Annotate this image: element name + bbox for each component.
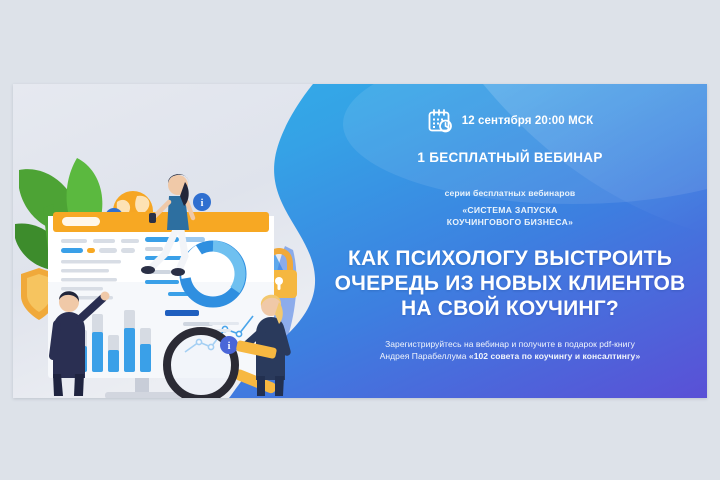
banner-content: 12 сентября 20:00 МСК 1 БЕСПЛАТНЫЙ ВЕБИН… [313,84,707,398]
calendar-clock-icon [427,108,453,134]
series-name-block: «СИСТЕМА ЗАПУСКА КОУЧИНГОВОГО БИЗНЕСА» [313,205,707,228]
main-title-line-3: НА СВОЙ КОУЧИНГ? [313,296,707,321]
webinar-date-text: 12 сентября 20:00 МСК [462,115,594,127]
webinar-promo-banner[interactable]: i [13,84,707,398]
svg-text:i: i [201,198,204,209]
page-title: КАК ПСИХОЛОГУ ВЫСТРОИТЬ ОЧЕРЕДЬ ИЗ НОВЫХ… [313,246,707,321]
svg-text:i: i [228,341,231,352]
screenshot-canvas: i [0,0,720,480]
footer-book-title: «102 совета по коучингу и консалтингу» [469,351,640,361]
free-webinar-headline: 1 БЕСПЛАТНЫЙ ВЕБИНАР [313,150,707,165]
date-row: 12 сентября 20:00 МСК [313,108,707,134]
analytics-dashboard-illustration: i [13,84,343,398]
main-title-line-1: КАК ПСИХОЛОГУ ВЫСТРОИТЬ [313,246,707,271]
series-name-line-2: КОУЧИНГОВОГО БИЗНЕСА» [313,217,707,229]
footer-author-name: Андрея Парабеллума [380,351,469,361]
main-title-line-2: ОЧЕРЕДЬ ИЗ НОВЫХ КЛИЕНТОВ [313,271,707,296]
series-name-line-1: «СИСТЕМА ЗАПУСКА [313,205,707,217]
footer-line-1: Зарегистрируйтесь на вебинар и получите … [313,338,707,350]
registration-note: Зарегистрируйтесь на вебинар и получите … [313,338,707,362]
footer-line-2: Андрея Парабеллума «102 совета по коучин… [313,350,707,362]
series-intro-text: серии бесплатных вебинаров [313,188,707,198]
